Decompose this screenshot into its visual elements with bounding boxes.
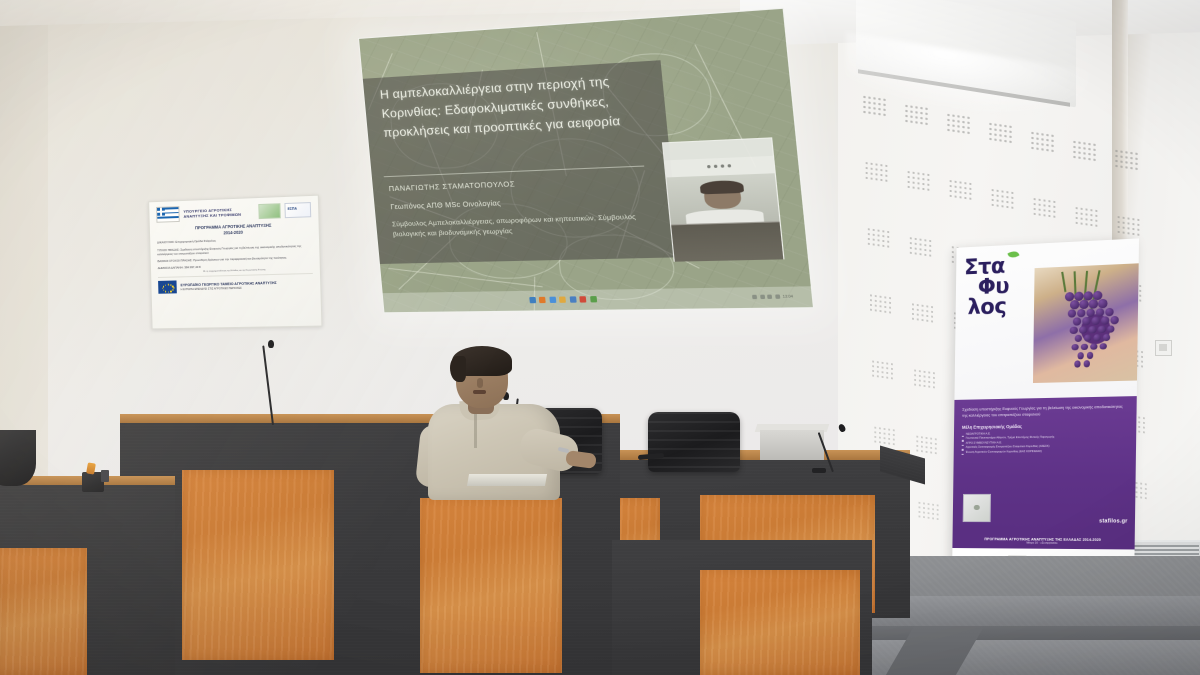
grape-berry	[1086, 308, 1095, 317]
podium-wood-panel-2	[420, 498, 562, 673]
video-secondary-strip	[671, 221, 783, 261]
banner-programme-strip: ΠΡΟΓΡΑΜΜΑ ΑΓΡΟΤΙΚΗΣ ΑΝΑΠΤΥΞΗΣ ΤΗΣ ΕΛΛΑΔΑ…	[952, 532, 1134, 550]
poster-programme-title: ΠΡΟΓΡΑΜΜΑ ΑΓΡΟΤΙΚΗΣ ΑΝΑΠΤΥΞΗΣ 2014-2020	[157, 221, 312, 238]
presenter-hair-side	[450, 356, 466, 382]
projection-frame: Η αμπελοκαλλιέργεια στην περιοχή της Κορ…	[358, 8, 814, 314]
espa-logo-icon: ΕΣΠΑ	[284, 202, 311, 218]
eu-star-icon	[165, 291, 166, 293]
grape-berry	[1080, 300, 1089, 309]
bench-front-right-wood	[700, 570, 860, 675]
conference-room-photo: Η αμπελοκαλλιέργεια στην περιοχή της Κορ…	[0, 0, 1200, 675]
tray-icon[interactable]	[760, 295, 765, 299]
taskbar-clock[interactable]: 13:04	[782, 295, 793, 300]
presenter-nose	[477, 378, 483, 388]
grape-berry	[1077, 309, 1086, 318]
rural-development-logo-icon	[258, 203, 281, 219]
grape-berry	[1082, 317, 1090, 325]
taskbar-app-icon[interactable]	[559, 297, 566, 303]
grape-berry	[1084, 334, 1092, 342]
taskbar-icons[interactable]	[529, 297, 597, 304]
banner-body-section: Σχεδίαση υποστήριξης Ευφυούς Γεωργίας γι…	[953, 396, 1137, 533]
video-call-panel[interactable]	[662, 138, 785, 262]
tray-icon[interactable]	[752, 295, 757, 299]
lectern-block	[760, 430, 824, 460]
eu-flag-icon	[158, 281, 177, 294]
grape-berry	[1110, 316, 1118, 324]
banner-website-url: stafilos.gr	[1099, 518, 1127, 524]
grape-berry	[1100, 343, 1107, 350]
video-control-icon[interactable]	[714, 165, 718, 168]
grape-berry	[1107, 325, 1115, 333]
grape-berry	[1081, 343, 1088, 350]
taskbar-app-icon[interactable]	[590, 297, 597, 303]
grape-berry	[1070, 326, 1078, 334]
taskbar-tray[interactable]: 13:04	[752, 295, 793, 300]
video-control-icon[interactable]	[707, 165, 711, 168]
taskbar-app-icon[interactable]	[529, 297, 536, 303]
grape-berry	[1070, 300, 1079, 309]
eu-star-icon	[172, 289, 173, 291]
banner-members-heading: Μέλη Επιχειρησιακής Ομάδας	[962, 422, 1128, 430]
poster-fund-footer: ΕΥΡΩΠΑΪΚΟ ΓΕΩΡΓΙΚΟ ΤΑΜΕΙΟ ΑΓΡΟΤΙΚΗΣ ΑΝΑΠ…	[158, 273, 313, 294]
grape-berry	[1105, 308, 1114, 317]
video-control-icon[interactable]	[721, 165, 725, 168]
grape-berry	[1074, 361, 1081, 368]
grape-berry	[1083, 360, 1090, 367]
eu-rural-development-poster: ΥΠΟΥΡΓΕΙΟ ΑΓΡΟΤΙΚΗΣ ΑΝΑΠΤΥΞΗΣ ΚΑΙ ΤΡΟΦΙΜ…	[148, 195, 322, 330]
grape-berry	[1090, 343, 1097, 350]
grape-berry	[1098, 325, 1106, 333]
grape-berry	[1093, 334, 1101, 342]
executive-chair-right[interactable]	[648, 412, 740, 472]
grape-berry	[1086, 352, 1093, 359]
grape-berry	[1089, 300, 1098, 309]
banner-programme-line2: Μέτρο 16 - «Συνεργασία»	[1026, 541, 1057, 544]
microphone-base	[812, 468, 826, 473]
presenter-shirt-placket	[474, 414, 477, 448]
chair-backrest	[648, 412, 740, 472]
projected-slide: Η αμπελοκαλλιέργεια στην περιοχή της Κορ…	[358, 8, 814, 314]
left-wall-edge	[0, 0, 48, 480]
participant-hair	[699, 180, 744, 194]
eu-star-icon	[163, 290, 164, 292]
greek-flag-icon	[156, 206, 180, 223]
eu-star-icon	[163, 286, 164, 288]
grape-berry	[1101, 317, 1109, 325]
taskbar-app-icon[interactable]	[579, 297, 586, 303]
gooseneck-microphone-head	[268, 340, 274, 348]
poster-programme-period: 2014-2020	[223, 229, 243, 235]
desk-device	[82, 472, 104, 492]
grape-berry	[1067, 309, 1076, 318]
stafylos-rollup-banner: Στα Φυ λος Σχεδίαση υποστήριξης Ευφυούς …	[952, 238, 1139, 580]
taskbar-app-icon[interactable]	[569, 297, 576, 303]
qr-code-icon	[963, 494, 991, 522]
grape-berry	[1098, 299, 1107, 308]
poster-row: ΤΙΤΛΟΣ ΠΡΑΞΗΣ: Σχεδίαση υποστήριξης Ευφυ…	[157, 243, 312, 256]
eu-star-icon	[167, 284, 168, 286]
step-riser-upper	[838, 626, 1200, 640]
field-boundary-line	[388, 268, 542, 287]
grape-berry	[1103, 334, 1111, 342]
participant-shoulders	[685, 209, 764, 224]
grapes-illustration	[1033, 264, 1138, 383]
bench-left-wood-panel	[0, 548, 87, 675]
grape-berry	[1095, 308, 1104, 317]
grape-berry	[1075, 335, 1083, 343]
espa-logo-text: ΕΣΠΑ	[288, 206, 297, 210]
vine-stem	[1061, 272, 1066, 293]
eu-star-icon	[168, 291, 169, 293]
eu-star-icon	[165, 284, 166, 286]
banner-member-item: Ένωση Αγροτικών Συνεταιρισμών Κορινθίας …	[962, 449, 1128, 455]
papers-on-podium	[467, 474, 547, 486]
podium-wood-panel-1	[182, 470, 334, 660]
presenter-mouth	[473, 390, 486, 394]
banner-description: Σχεδίαση υποστήριξης Ευφυούς Γεωργίας γι…	[962, 403, 1128, 418]
poster-ministry-name: ΥΠΟΥΡΓΕΙΟ ΑΓΡΟΤΙΚΗΣ ΑΝΑΠΤΥΞΗΣ ΚΑΙ ΤΡΟΦΙΜ…	[183, 206, 254, 219]
grape-berry	[1091, 317, 1099, 325]
poster-header: ΥΠΟΥΡΓΕΙΟ ΑΓΡΟΤΙΚΗΣ ΑΝΑΠΤΥΞΗΣ ΚΑΙ ΤΡΟΦΙΜ…	[156, 201, 311, 223]
wall-mounted-device	[1155, 340, 1172, 356]
loudspeaker	[0, 430, 36, 486]
tray-icon[interactable]	[767, 295, 772, 299]
grape-berry	[1073, 318, 1081, 326]
eu-star-icon	[170, 291, 171, 293]
video-participant-thumbnail	[667, 173, 780, 224]
grape-berry	[1077, 352, 1084, 359]
video-control-icon[interactable]	[728, 164, 732, 167]
taskbar-app-icon[interactable]	[539, 297, 546, 303]
grape-berry	[1079, 326, 1087, 334]
banner-top-section: Στα Φυ λος	[954, 238, 1139, 399]
grape-berry	[1088, 326, 1096, 334]
taskbar-app-icon[interactable]	[549, 297, 556, 303]
tray-icon[interactable]	[775, 295, 780, 299]
grape-berry	[1072, 344, 1079, 351]
